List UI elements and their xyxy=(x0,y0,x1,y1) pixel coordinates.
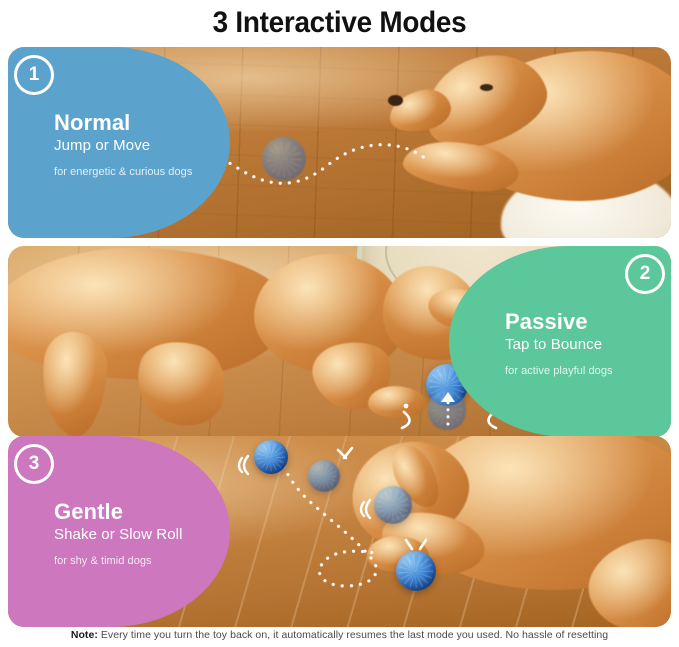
mode-badge-3: 3 xyxy=(14,444,54,484)
page-title: 3 Interactive Modes xyxy=(24,0,655,43)
dog-nose xyxy=(388,95,403,106)
mode-title: Gentle xyxy=(54,499,183,524)
mode-panel-normal: Normal Jump or Move for energetic & curi… xyxy=(8,47,671,238)
mode-subtitle: Shake or Slow Roll xyxy=(54,525,183,545)
mode-subtitle: Tap to Bounce xyxy=(505,335,613,355)
mode-badge-number: 2 xyxy=(640,263,651,285)
footer-note-label: Note: xyxy=(71,629,98,641)
mode-title: Normal xyxy=(54,110,192,135)
toy-ball-ghost-below xyxy=(428,388,466,430)
mode-text-group: Gentle Shake or Slow Roll for shy & timi… xyxy=(54,493,183,569)
mode-description: for active playful dogs xyxy=(505,364,613,380)
toy-ball-1 xyxy=(254,440,288,474)
mode-title: Passive xyxy=(505,309,613,334)
dog-paw xyxy=(368,386,426,418)
mode-text-group: Passive Tap to Bounce for active playful… xyxy=(505,303,613,379)
toy-ball-active xyxy=(396,551,436,591)
mode-badge-2: 2 xyxy=(625,254,665,294)
footer-note-text: Every time you turn the toy back on, it … xyxy=(98,629,608,641)
footer-note: Note: Every time you turn the toy back o… xyxy=(0,629,679,641)
mode-panel-passive: Passive Tap to Bounce for active playful… xyxy=(8,246,671,437)
mode-text-group: Normal Jump or Move for energetic & curi… xyxy=(54,104,192,180)
mode-subtitle: Jump or Move xyxy=(54,136,192,156)
toy-ball-ghost-far xyxy=(262,137,306,181)
mode-description: for energetic & curious dogs xyxy=(54,165,192,181)
mode-badge-1: 1 xyxy=(14,55,54,95)
mode-badge-number: 3 xyxy=(29,453,40,475)
toy-ball-3 xyxy=(374,486,412,524)
dog-eye xyxy=(480,84,493,91)
mode-panel-gentle: Gentle Shake or Slow Roll for shy & timi… xyxy=(8,436,671,627)
mode-description: for shy & timid dogs xyxy=(54,554,183,570)
toy-ball-2 xyxy=(308,460,340,492)
mode-badge-number: 1 xyxy=(29,64,40,86)
